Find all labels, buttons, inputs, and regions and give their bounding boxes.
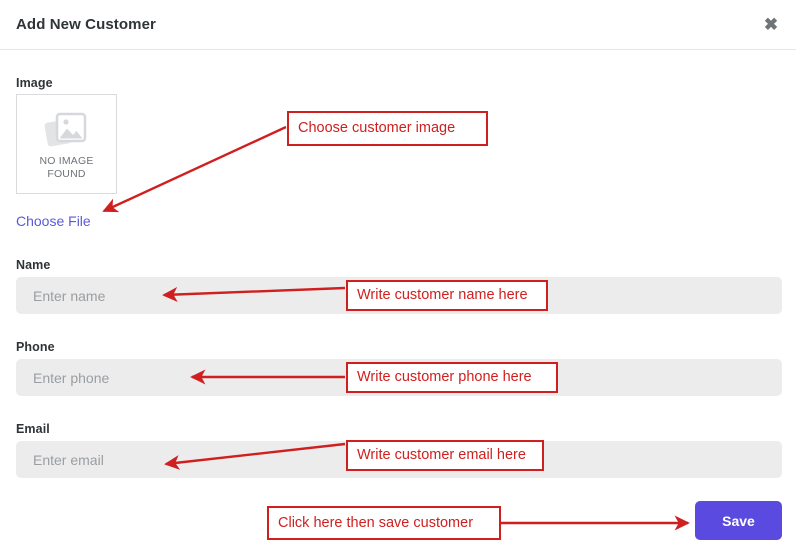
no-image-line-2: FOUND bbox=[47, 168, 85, 180]
email-label: Email bbox=[16, 422, 50, 436]
no-image-line-1: NO IMAGE bbox=[39, 155, 93, 167]
phone-label: Phone bbox=[16, 340, 55, 354]
save-button[interactable]: Save bbox=[695, 501, 782, 540]
image-preview: NO IMAGE FOUND bbox=[16, 94, 117, 194]
close-icon[interactable]: ✖ bbox=[760, 15, 782, 37]
page-title: Add New Customer bbox=[16, 16, 156, 33]
email-input[interactable] bbox=[16, 441, 782, 478]
modal-header: Add New Customer ✖ bbox=[0, 0, 796, 50]
annotation-choose-image: Choose customer image bbox=[287, 111, 488, 146]
no-image-text: NO IMAGE FOUND bbox=[17, 155, 116, 181]
arrow-image bbox=[104, 127, 286, 211]
choose-file-link[interactable]: Choose File bbox=[16, 213, 91, 229]
photo-placeholder-icon bbox=[44, 109, 90, 151]
name-label: Name bbox=[16, 258, 50, 272]
phone-input[interactable] bbox=[16, 359, 782, 396]
image-label: Image bbox=[16, 76, 53, 90]
annotation-save: Click here then save customer bbox=[267, 506, 501, 540]
name-input[interactable] bbox=[16, 277, 782, 314]
